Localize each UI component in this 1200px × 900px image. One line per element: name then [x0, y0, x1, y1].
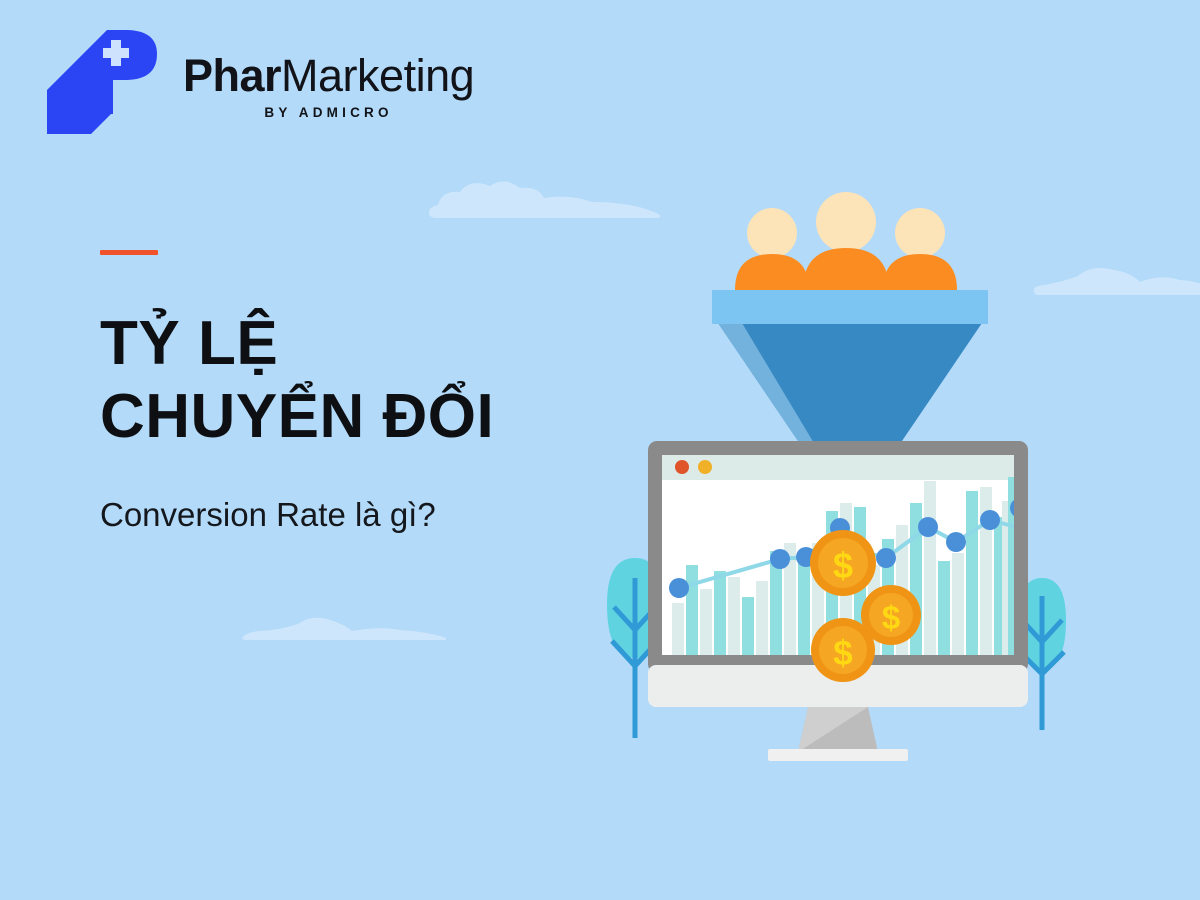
page-subtitle: Conversion Rate là gì? — [100, 495, 620, 535]
browser-titlebar — [662, 455, 1014, 480]
headline-block: TỶ LỆ CHUYỂN ĐỔI Conversion Rate là gì? — [100, 250, 620, 535]
monitor — [648, 441, 1030, 761]
cloud-bottom-left — [240, 612, 450, 644]
title-line-2: CHUYỂN ĐỔI — [100, 380, 620, 453]
person-left — [735, 208, 809, 290]
svg-text:$: $ — [833, 634, 852, 673]
accent-rule — [100, 250, 158, 255]
browser-close-dot — [675, 460, 689, 474]
conversion-funnel-illustration: $ $ $ — [590, 160, 1150, 780]
wordmark-light: Marketing — [281, 50, 474, 101]
banner-root: PharMarketing BY ADMICRO TỶ LỆ CHUYỂN ĐỔ… — [0, 0, 1200, 900]
pharmarketing-logo-icon — [45, 28, 161, 140]
brand-logo[interactable]: PharMarketing BY ADMICRO — [45, 28, 474, 140]
funnel-rim — [712, 290, 988, 324]
coin-bottom: $ — [811, 618, 875, 682]
svg-text:$: $ — [882, 599, 900, 636]
person-center — [803, 192, 889, 290]
page-title: TỶ LỆ CHUYỂN ĐỔI — [100, 307, 620, 453]
person-right — [883, 208, 957, 290]
browser-minimize-dot — [698, 460, 712, 474]
brand-wordmark: PharMarketing — [183, 53, 474, 98]
monitor-foot — [768, 749, 908, 761]
coin-top: $ — [810, 530, 876, 596]
wordmark-bold: Phar — [183, 50, 281, 101]
title-line-1: TỶ LỆ — [100, 307, 620, 380]
svg-text:$: $ — [833, 545, 853, 586]
audience-group — [735, 192, 957, 290]
brand-wordmark-group: PharMarketing BY ADMICRO — [183, 53, 474, 120]
brand-tagline: BY ADMICRO — [264, 105, 392, 120]
